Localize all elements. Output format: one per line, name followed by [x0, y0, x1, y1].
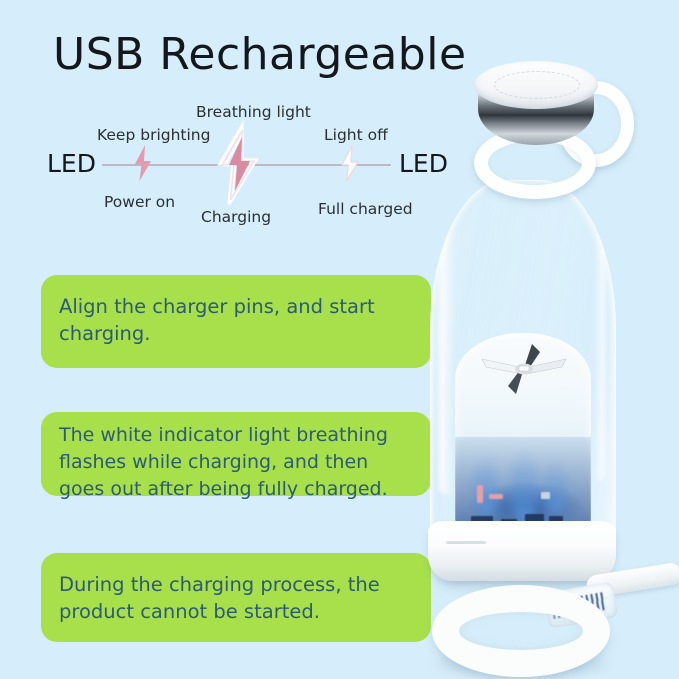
info-line: goes out after being fully charged.	[59, 476, 411, 503]
caption-charging: Charging	[201, 208, 271, 227]
info-line: Align the charger pins, and start	[59, 293, 411, 320]
info-line: flashes while charging, and then	[59, 449, 411, 476]
info-line: product cannot be started.	[59, 598, 411, 625]
info-box-cannot-start: During the charging process, the product…	[41, 553, 431, 642]
lightning-bolt-icon-full-charged	[339, 145, 361, 182]
caption-light-off: Light off	[324, 126, 388, 145]
internal-circuit-board	[455, 437, 591, 533]
infographic-page: USB Rechargeable LED LED Keep brighting …	[0, 0, 679, 679]
caption-full-charged: Full charged	[318, 200, 413, 219]
lightning-bolt-icon-charging	[222, 133, 256, 195]
charging-ring-base	[432, 585, 610, 677]
product-photo-portable-blender	[408, 55, 679, 679]
info-box-indicator-light: The white indicator light breathing flas…	[41, 412, 431, 496]
info-box-align-charger: Align the charger pins, and start chargi…	[41, 275, 431, 368]
caption-power-on: Power on	[104, 193, 175, 212]
info-line: charging.	[59, 320, 411, 347]
caption-breathing-light: Breathing light	[196, 103, 311, 122]
led-label-left: LED	[47, 150, 96, 178]
info-line: During the charging process, the	[59, 571, 411, 598]
lid-assembly	[438, 55, 648, 195]
caption-keep-brighting: Keep brighting	[97, 126, 210, 145]
blade-assembly	[470, 342, 578, 398]
wireless-charging-ring	[418, 551, 679, 679]
lightning-bolt-icon-power-on	[132, 144, 154, 182]
lid-white-cap	[474, 61, 598, 109]
info-line: The white indicator light breathing	[59, 422, 411, 449]
page-title: USB Rechargeable	[53, 27, 467, 83]
